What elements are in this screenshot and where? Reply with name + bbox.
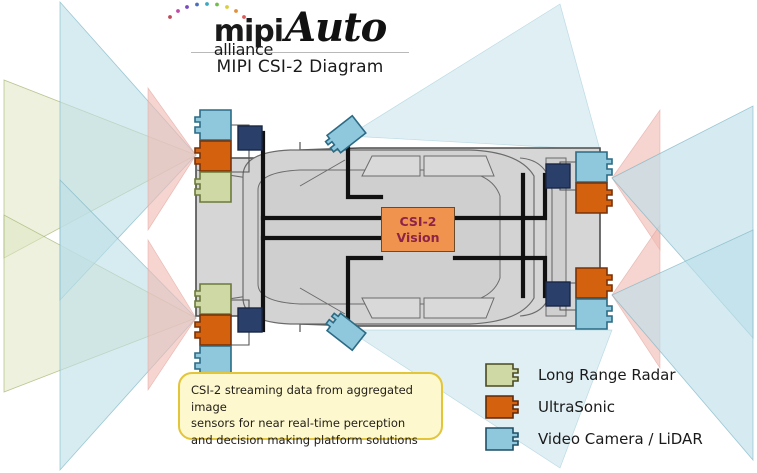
legend-label-ultrasonic: UltraSonic bbox=[538, 398, 615, 416]
csi2-label-line2: Vision bbox=[397, 230, 440, 246]
cluster-rear-right[interactable] bbox=[546, 268, 612, 329]
cluster-rear-left[interactable] bbox=[195, 284, 262, 376]
page-title: MIPI CSI-2 Diagram bbox=[150, 57, 450, 77]
aggregator-front-right[interactable] bbox=[546, 164, 570, 188]
sensor-camera-rear-right[interactable] bbox=[576, 299, 612, 329]
note-callout: CSI-2 streaming data from aggregated ima… bbox=[178, 372, 443, 440]
auto-word: Auto bbox=[285, 4, 386, 51]
sensor-ultrasonic-front-right[interactable] bbox=[576, 183, 612, 213]
cluster-front-left[interactable] bbox=[195, 110, 262, 202]
cluster-front-right[interactable] bbox=[546, 152, 612, 213]
sensor-radar-rear-left[interactable] bbox=[195, 284, 231, 314]
note-line-3: and decision making platform solutions bbox=[191, 432, 430, 449]
legend: Long Range Radar UltraSonic Video Camera… bbox=[484, 362, 703, 458]
sensor-camera-front-left[interactable] bbox=[195, 110, 231, 140]
legend-label-radar: Long Range Radar bbox=[538, 366, 676, 384]
sensor-ultrasonic-rear-left[interactable] bbox=[195, 315, 231, 345]
roof-front-camera-body[interactable] bbox=[323, 116, 366, 156]
note-line-1: CSI-2 streaming data from aggregated ima… bbox=[191, 382, 430, 415]
legend-item-ultrasonic: UltraSonic bbox=[484, 394, 703, 420]
aggregator-rear-right[interactable] bbox=[546, 282, 570, 306]
mipi-alliance-auto-logo: mipi alliance Auto bbox=[150, 4, 450, 50]
csi2-vision-unit[interactable]: CSI-2 Vision bbox=[381, 207, 455, 252]
aggregator-front-left[interactable] bbox=[238, 126, 262, 150]
roof-rear-camera[interactable] bbox=[323, 310, 366, 350]
mipi-dot-arc-icon bbox=[164, 2, 250, 22]
header: mipi alliance Auto MIPI CSI-2 Diagram bbox=[150, 4, 450, 77]
legend-item-radar: Long Range Radar bbox=[484, 362, 703, 388]
diagram-canvas: CSI-2 Vision mipi alliance Auto MIPI bbox=[0, 0, 757, 473]
note-line-2: sensors for near real-time perception bbox=[191, 415, 430, 432]
sensor-radar-front-left[interactable] bbox=[195, 172, 231, 202]
roof-rear-camera-body[interactable] bbox=[323, 310, 366, 350]
aggregator-rear-left[interactable] bbox=[238, 308, 262, 332]
sensor-ultrasonic-rear-right[interactable] bbox=[576, 268, 612, 298]
video-camera-lidar-icon bbox=[484, 427, 520, 451]
csi2-label-line1: CSI-2 bbox=[400, 214, 437, 230]
ultrasonic-icon bbox=[484, 395, 520, 419]
legend-item-camera: Video Camera / LiDAR bbox=[484, 426, 703, 452]
legend-label-camera: Video Camera / LiDAR bbox=[538, 430, 703, 448]
sensor-ultrasonic-front-left[interactable] bbox=[195, 141, 231, 171]
alliance-word: alliance bbox=[214, 43, 273, 58]
long-range-radar-icon bbox=[484, 363, 520, 387]
roof-front-camera[interactable] bbox=[323, 116, 366, 156]
sensor-camera-front-right[interactable] bbox=[576, 152, 612, 182]
